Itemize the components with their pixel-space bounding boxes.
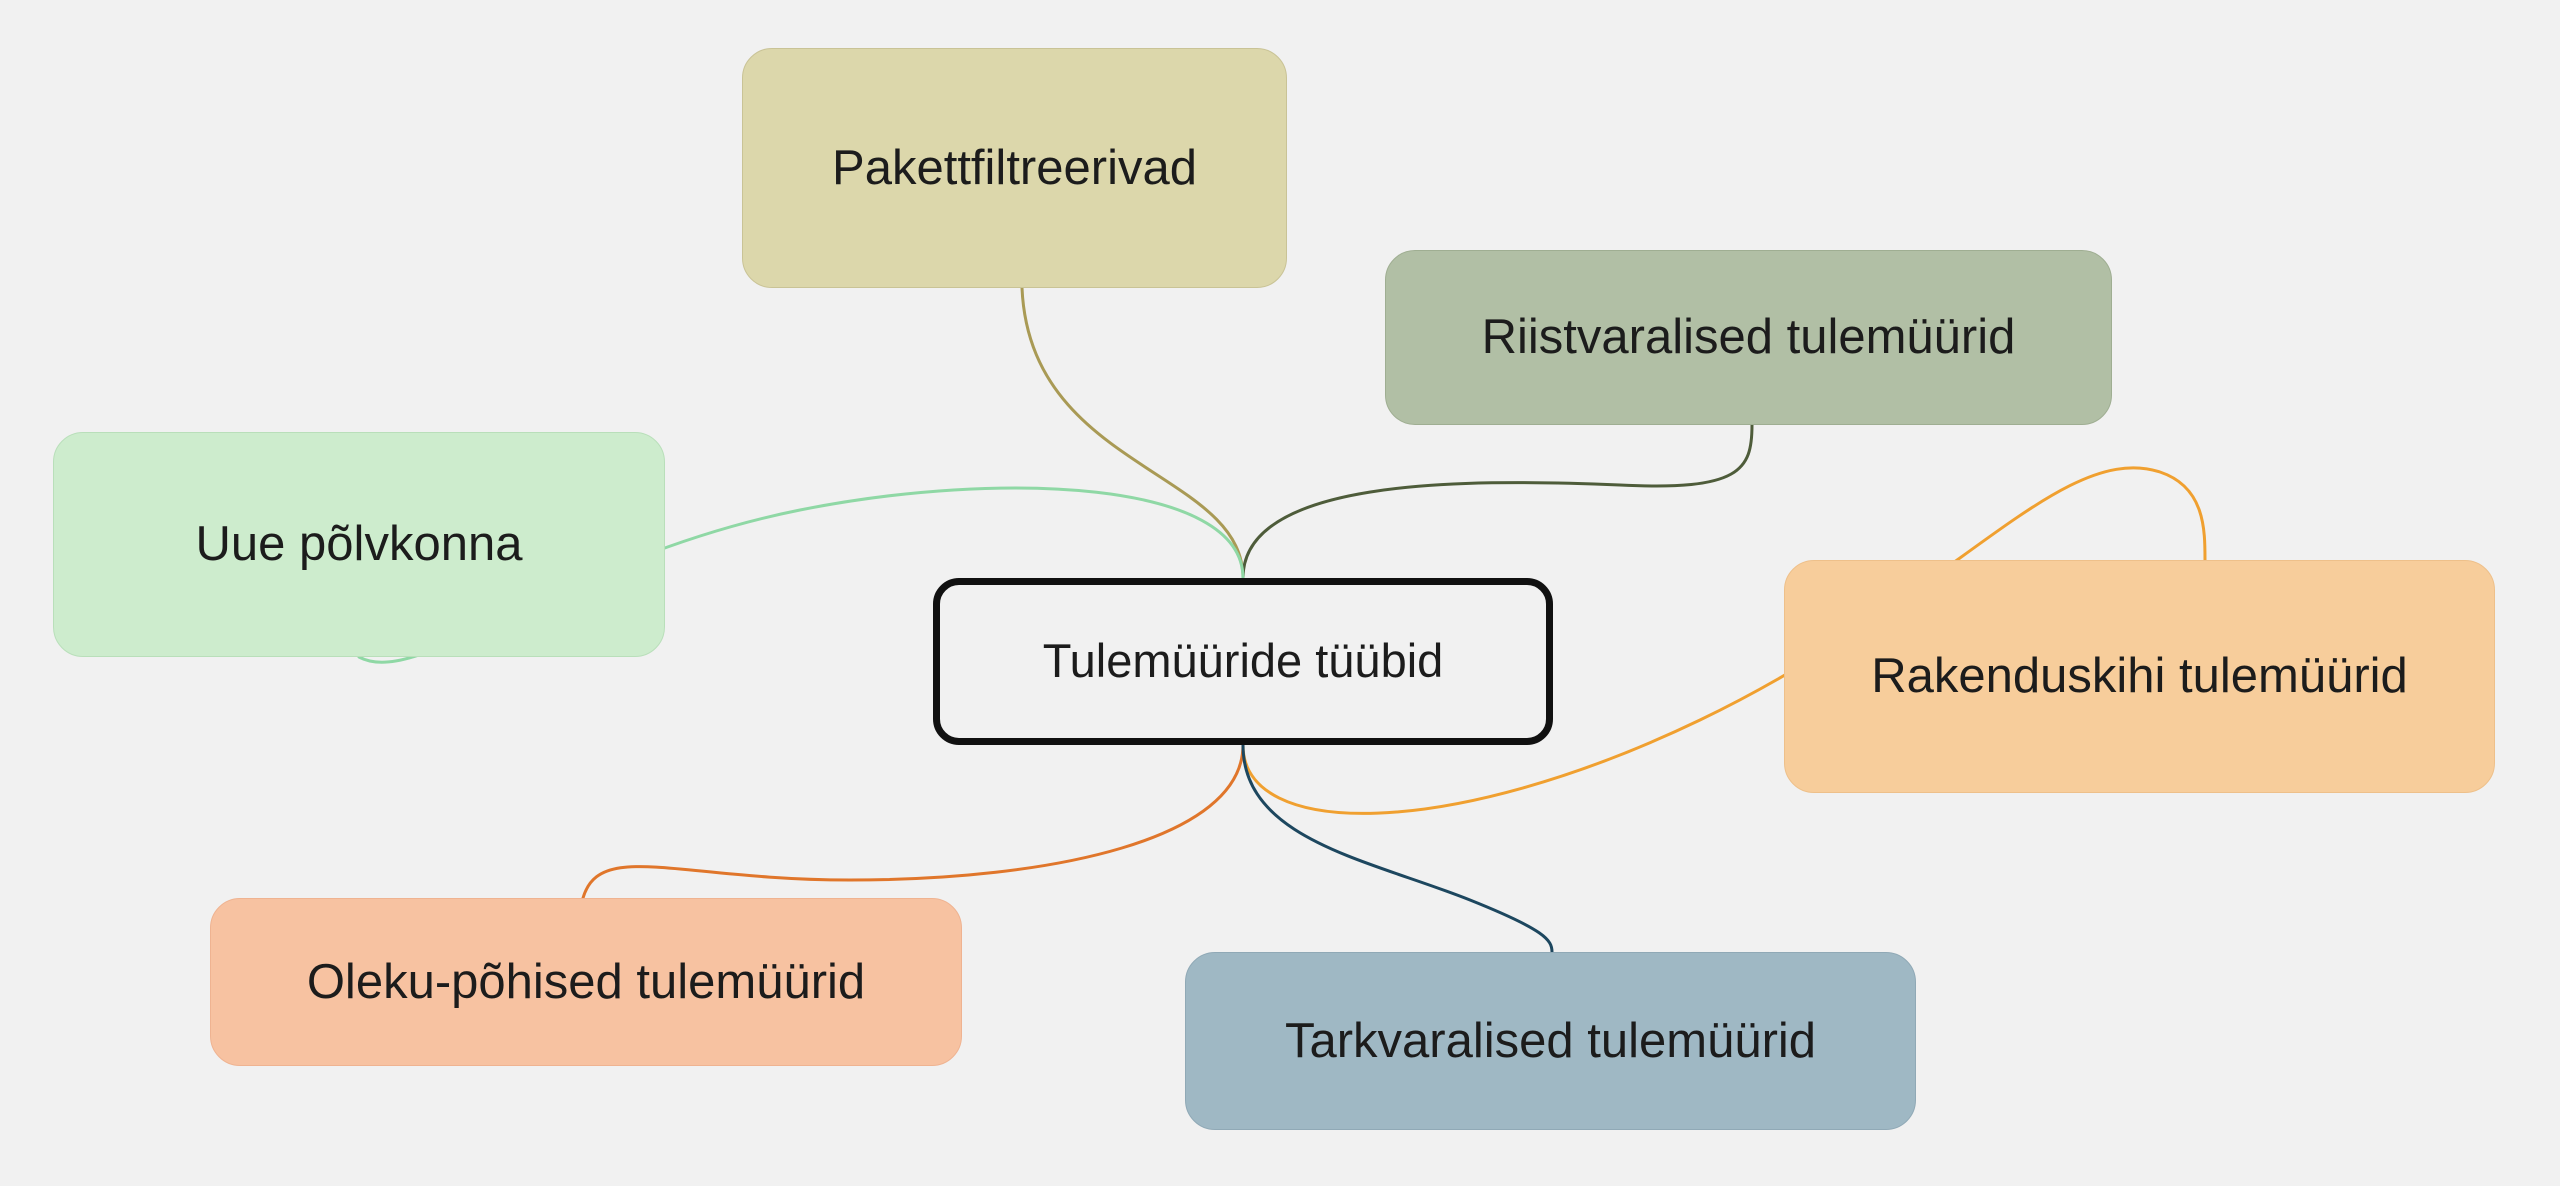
node-rakenduskihi[interactable]: Rakenduskihi tulemüürid xyxy=(1784,560,2495,793)
node-uue-polvkonna[interactable]: Uue põlvkonna xyxy=(53,432,665,657)
node-label-rakenduskihi: Rakenduskihi tulemüürid xyxy=(1853,647,2426,706)
mindmap-canvas: Tulemüüride tüübidPakettfiltreerivadRiis… xyxy=(0,0,2560,1186)
node-riistvaralised[interactable]: Riistvaralised tulemüürid xyxy=(1385,250,2112,425)
edge-pakettfiltreerivad xyxy=(1022,288,1243,578)
edge-tarkvaralised xyxy=(1243,745,1552,952)
node-oleku-pohised[interactable]: Oleku-põhised tulemüürid xyxy=(210,898,962,1066)
edge-oleku-pohised xyxy=(583,745,1243,898)
node-pakettfiltreerivad[interactable]: Pakettfiltreerivad xyxy=(742,48,1287,288)
node-label-tarkvaralised: Tarkvaralised tulemüürid xyxy=(1267,1012,1834,1071)
edge-riistvaralised xyxy=(1243,425,1752,578)
root-node-label: Tulemüüride tüübid xyxy=(1025,633,1462,689)
root-node[interactable]: Tulemüüride tüübid xyxy=(933,578,1553,745)
node-label-oleku-pohised: Oleku-põhised tulemüürid xyxy=(289,953,883,1012)
node-label-riistvaralised: Riistvaralised tulemüürid xyxy=(1464,308,2034,367)
node-label-uue-polvkonna: Uue põlvkonna xyxy=(178,515,541,574)
node-tarkvaralised[interactable]: Tarkvaralised tulemüürid xyxy=(1185,952,1916,1130)
node-label-pakettfiltreerivad: Pakettfiltreerivad xyxy=(814,139,1215,198)
